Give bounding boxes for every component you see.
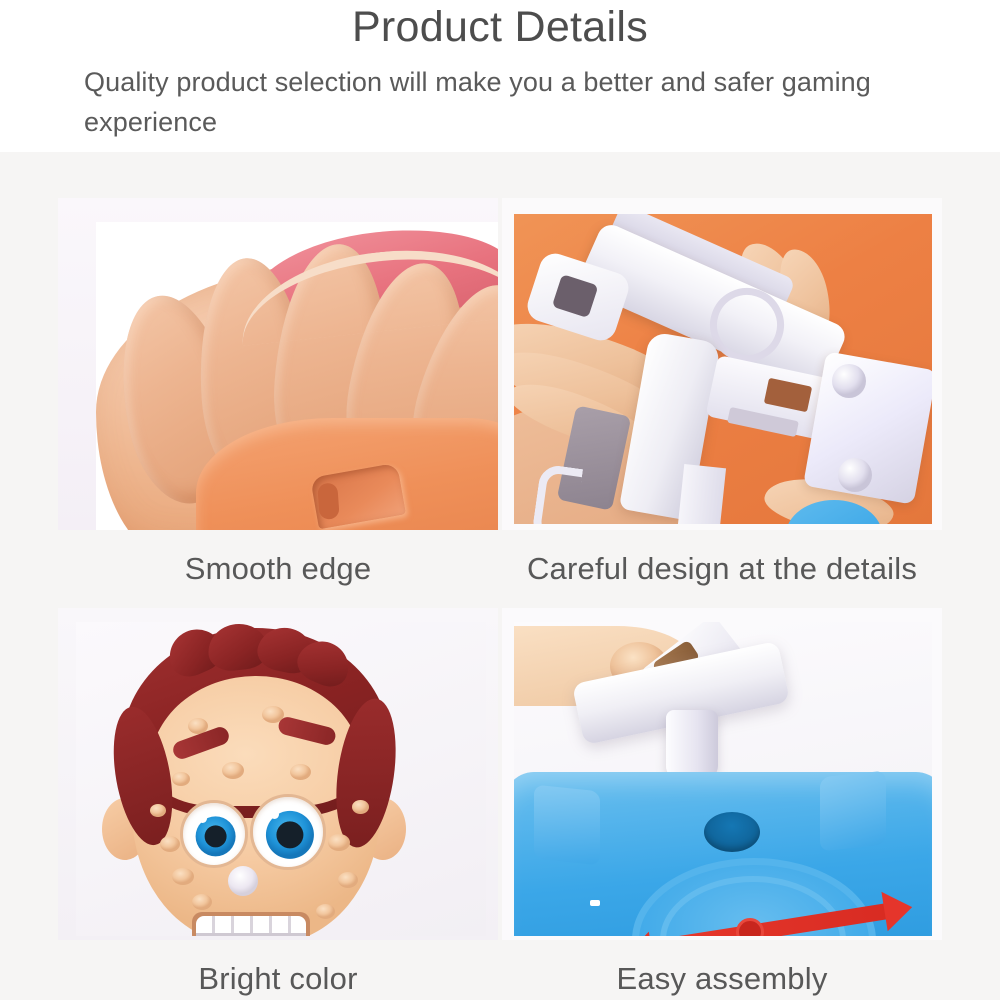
product-details-page: Product Details Quality product selectio… (0, 0, 1000, 1000)
detail-cell-careful-design: Careful design at the details (502, 198, 942, 588)
detail-cell-easy-assembly: Easy assembly (502, 608, 942, 998)
page-header: Product Details Quality product selectio… (0, 0, 1000, 152)
detail-caption: Smooth edge (58, 550, 498, 588)
detail-caption: Careful design at the details (502, 550, 942, 588)
boy-face-photo (58, 608, 498, 940)
detail-cell-smooth-edge: Smooth edge (58, 198, 498, 588)
assembly-photo (502, 608, 942, 940)
page-title: Product Details (0, 2, 1000, 52)
page-subtitle: Quality product selection will make you … (84, 62, 956, 142)
detail-caption: Bright color (58, 960, 498, 998)
detail-cell-bright-color: Bright color (58, 608, 498, 998)
detail-caption: Easy assembly (502, 960, 942, 998)
detail-photo-grid: Smooth edge (0, 152, 1000, 1000)
mechanism-detail-photo (502, 198, 942, 530)
smooth-edge-closeup-photo (58, 198, 498, 530)
